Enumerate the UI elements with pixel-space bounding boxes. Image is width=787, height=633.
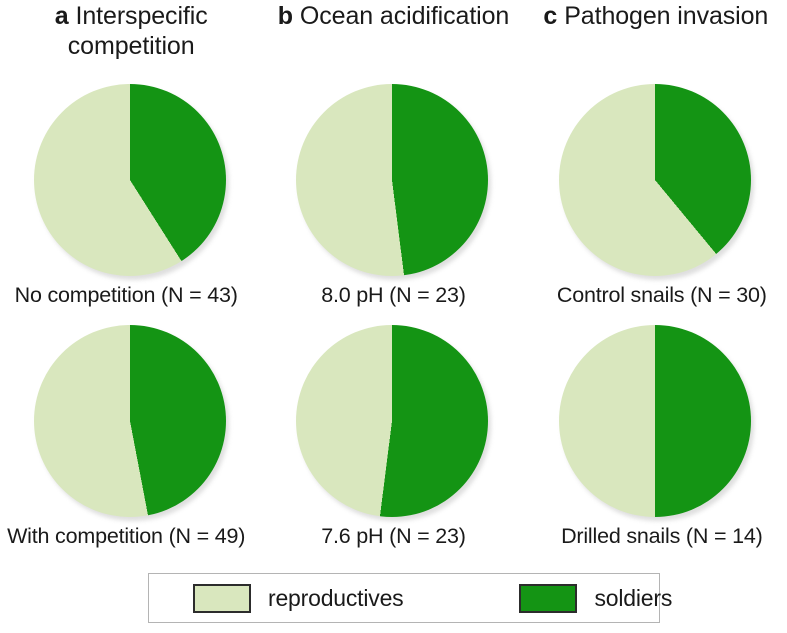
pie-caption-with-competition: With competition (N = 49): [7, 525, 245, 549]
pie-cell-a-bottom: With competition (N = 49): [0, 323, 262, 564]
pie-cell-b-top: 8.0 pH (N = 23): [262, 82, 524, 323]
pie-chart-ph-76: [296, 325, 488, 517]
pie-wrapper: [34, 325, 228, 519]
pie-caption-ph-80: 8.0 pH (N = 23): [321, 284, 466, 308]
pie-cell-b-bottom: 7.6 pH (N = 23): [262, 323, 524, 564]
pie-wrapper: [559, 84, 753, 278]
pie-caption-no-competition: No competition (N = 43): [15, 284, 238, 308]
panel-title-text-a: Interspecific competition: [68, 2, 208, 60]
legend-entry-soldiers: soldiers: [519, 584, 672, 613]
pie-row-bottom: With competition (N = 49) 7.6 pH (N = 23…: [0, 323, 787, 564]
panel-title-a: aInterspecific competition: [0, 0, 262, 82]
panel-title-b: bOcean acidification: [262, 0, 524, 82]
pie-chart-ph-80: [296, 84, 488, 276]
legend-swatch-reproductives: [193, 584, 251, 613]
legend-label-reproductives: reproductives: [268, 585, 403, 612]
pie-wrapper: [34, 84, 228, 278]
pie-wrapper: [296, 84, 490, 278]
panel-letter-a: a: [55, 2, 69, 30]
pie-chart-drilled-snails: [559, 325, 751, 517]
figure-panel-group: aInterspecific competition bOcean acidif…: [0, 0, 787, 633]
panel-titles: aInterspecific competition bOcean acidif…: [0, 0, 787, 82]
panel-title-text-c: Pathogen invasion: [564, 2, 768, 30]
legend-label-soldiers: soldiers: [594, 585, 672, 612]
panel-title-text-b: Ocean acidification: [300, 2, 509, 30]
pie-chart-grid: No competition (N = 43) 8.0 pH (N = 23) …: [0, 82, 787, 564]
legend: reproductives soldiers: [148, 573, 660, 623]
pie-row-top: No competition (N = 43) 8.0 pH (N = 23) …: [0, 82, 787, 323]
pie-caption-control-snails: Control snails (N = 30): [557, 284, 767, 308]
legend-swatch-soldiers: [519, 584, 577, 613]
panel-letter-c: c: [543, 2, 557, 30]
pie-caption-drilled-snails: Drilled snails (N = 14): [561, 525, 763, 549]
pie-chart-no-competition: [34, 84, 226, 276]
pie-cell-c-bottom: Drilled snails (N = 14): [525, 323, 787, 564]
panel-letter-b: b: [278, 2, 293, 30]
pie-chart-with-competition: [34, 325, 226, 517]
pie-cell-a-top: No competition (N = 43): [0, 82, 262, 323]
legend-entry-reproductives: reproductives: [193, 584, 403, 613]
pie-cell-c-top: Control snails (N = 30): [525, 82, 787, 323]
pie-caption-ph-76: 7.6 pH (N = 23): [321, 525, 466, 549]
pie-wrapper: [296, 325, 490, 519]
panel-title-c: cPathogen invasion: [525, 0, 787, 82]
pie-wrapper: [559, 325, 753, 519]
pie-chart-control-snails: [559, 84, 751, 276]
